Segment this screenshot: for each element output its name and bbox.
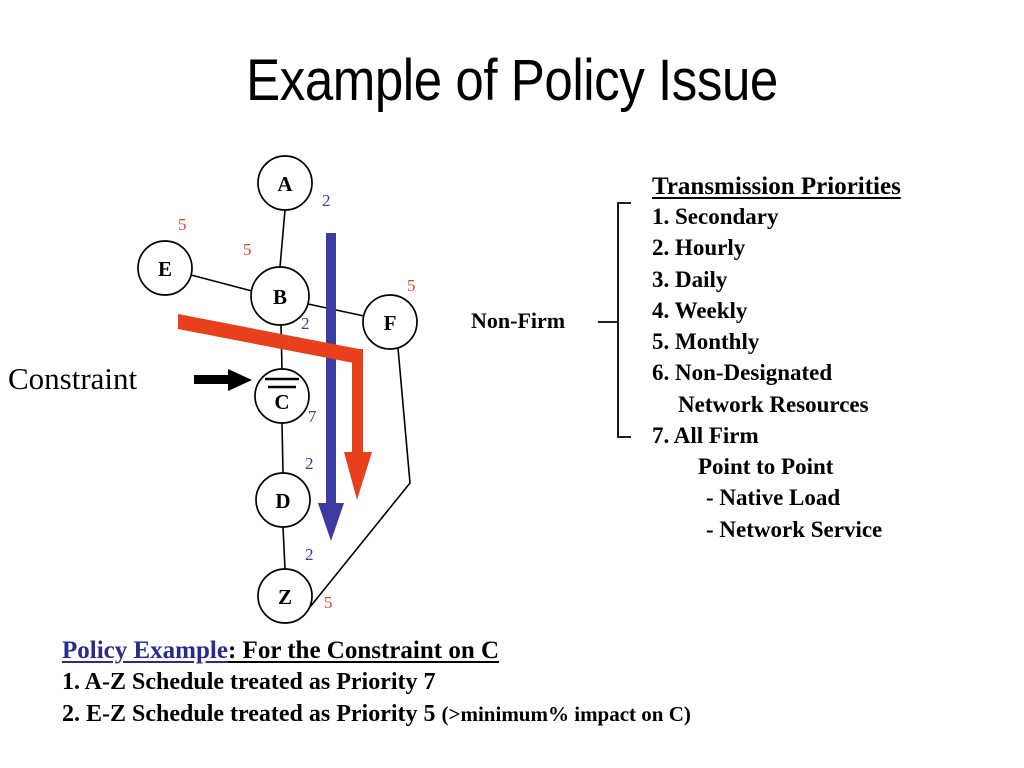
policy-example-item: 1. A-Z Schedule treated as Priority 7 <box>62 666 691 698</box>
policy-example-item-text: 2. E-Z Schedule treated as Priority 5 <box>62 701 442 727</box>
priority-item: 6. Non-Designated <box>652 357 1022 388</box>
policy-example-heading-rest: : For the Constraint on C <box>228 637 499 664</box>
priority-subitem: Point to Point <box>652 451 1022 482</box>
node-label-b: B <box>260 287 300 308</box>
edge-b-c <box>281 325 282 369</box>
node-label-a: A <box>265 174 305 195</box>
priority-item: 2. Hourly <box>652 232 1022 263</box>
edge-weight: 2 <box>301 315 310 332</box>
policy-example-item-text: 1. A-Z Schedule treated as Priority 7 <box>62 669 436 695</box>
policy-example-item: 2. E-Z Schedule treated as Priority 5 (>… <box>62 698 691 730</box>
priority-item: 3. Daily <box>652 264 1022 295</box>
edge-f-z <box>310 348 410 607</box>
node-label-z: Z <box>265 587 305 608</box>
edge-weight: 7 <box>308 408 317 425</box>
edge-d-z <box>283 527 285 569</box>
priority-subitem: - Network Service <box>652 514 1022 545</box>
priority-item-continuation: Network Resources <box>652 389 1022 420</box>
edge-weight: 5 <box>243 241 252 258</box>
non-firm-bracket <box>598 203 631 437</box>
edge-weight: 5 <box>324 594 333 611</box>
node-label-e: E <box>145 259 185 280</box>
node-label-c: C <box>262 392 302 413</box>
priority-subitem: - Native Load <box>652 482 1022 513</box>
policy-example-link[interactable]: Policy Example <box>62 637 228 664</box>
edge-b-f <box>308 304 364 316</box>
priority-item: 5. Monthly <box>652 326 1022 357</box>
edge-weight: 5 <box>407 277 416 294</box>
policy-example-block: Policy Example: For the Constraint on C … <box>62 636 691 730</box>
policy-example-heading: Policy Example: For the Constraint on C <box>62 636 691 666</box>
edge-weight: 5 <box>178 216 187 233</box>
node-label-d: D <box>263 491 303 512</box>
edge-weight: 2 <box>322 192 331 209</box>
edge-weight: 2 <box>305 546 314 563</box>
page-title: Example of Policy Issue <box>61 52 962 110</box>
edge-weight: 2 <box>305 455 314 472</box>
constraint-arrow-icon <box>194 369 252 391</box>
edge-e-b <box>191 275 252 291</box>
policy-example-item-note: (>minimum% impact on C) <box>442 702 691 726</box>
priority-item: 7. All Firm <box>652 420 1022 451</box>
node-c-constraint-bars <box>265 379 299 387</box>
slide-canvas: Example of Policy Issue <box>0 0 1024 768</box>
priority-item: 4. Weekly <box>652 295 1022 326</box>
constraint-caption: Constraint <box>8 361 137 397</box>
a-z-schedule-flow-arrow <box>318 233 344 541</box>
priorities-heading: Transmission Priorities <box>652 173 1022 201</box>
non-firm-label: Non-Firm <box>471 308 565 334</box>
node-label-f: F <box>370 313 410 334</box>
edge-a-b <box>280 210 285 267</box>
transmission-priorities-panel: Transmission Priorities 1. Secondary 2. … <box>652 173 1022 545</box>
priority-item: 1. Secondary <box>652 201 1022 232</box>
edge-c-d <box>282 423 283 473</box>
